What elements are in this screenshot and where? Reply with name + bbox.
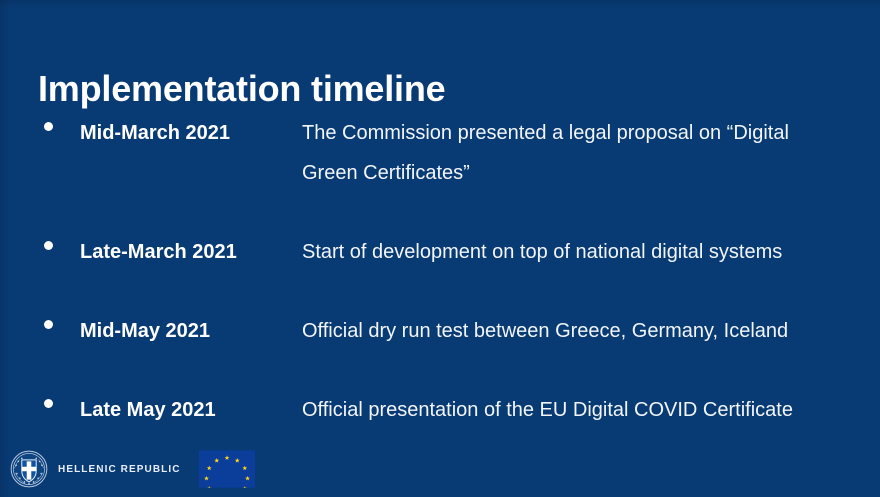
page-title: Implementation timeline — [38, 68, 445, 109]
bullet-marker — [38, 113, 80, 131]
bullet-dot-icon — [44, 122, 53, 131]
bullet-marker — [38, 232, 80, 250]
bullet-dot-icon — [44, 399, 53, 408]
list-item: Mid-May 2021 Official dry run test betwe… — [38, 311, 850, 351]
footer-organization-label: HELLENIC REPUBLIC — [58, 464, 181, 475]
timeline-description: Official dry run test between Greece, Ge… — [302, 311, 796, 351]
timeline-list: Mid-March 2021 The Commission presented … — [38, 113, 850, 430]
bullet-dot-icon — [44, 320, 53, 329]
bullet-marker — [38, 311, 80, 329]
timeline-date-label: Mid-March 2021 — [80, 113, 302, 153]
list-item: Late May 2021 Official presentation of t… — [38, 390, 850, 430]
timeline-description: The Commission presented a legal proposa… — [302, 113, 796, 193]
list-item: Late-March 2021 Start of development on … — [38, 232, 850, 272]
timeline-date-label: Mid-May 2021 — [80, 311, 302, 351]
hellenic-republic-coat-of-arms-icon — [10, 450, 48, 488]
timeline-date-label: Late-March 2021 — [80, 232, 302, 272]
list-item: Mid-March 2021 The Commission presented … — [38, 113, 850, 193]
bullet-dot-icon — [44, 241, 53, 250]
european-union-flag-icon — [199, 450, 255, 488]
timeline-date-label: Late May 2021 — [80, 390, 302, 430]
timeline-description: Start of development on top of national … — [302, 232, 796, 272]
presentation-slide: Implementation timeline Mid-March 2021 T… — [0, 0, 880, 497]
bullet-marker — [38, 390, 80, 408]
slide-footer: HELLENIC REPUBLIC — [10, 448, 255, 490]
timeline-description: Official presentation of the EU Digital … — [302, 390, 796, 430]
